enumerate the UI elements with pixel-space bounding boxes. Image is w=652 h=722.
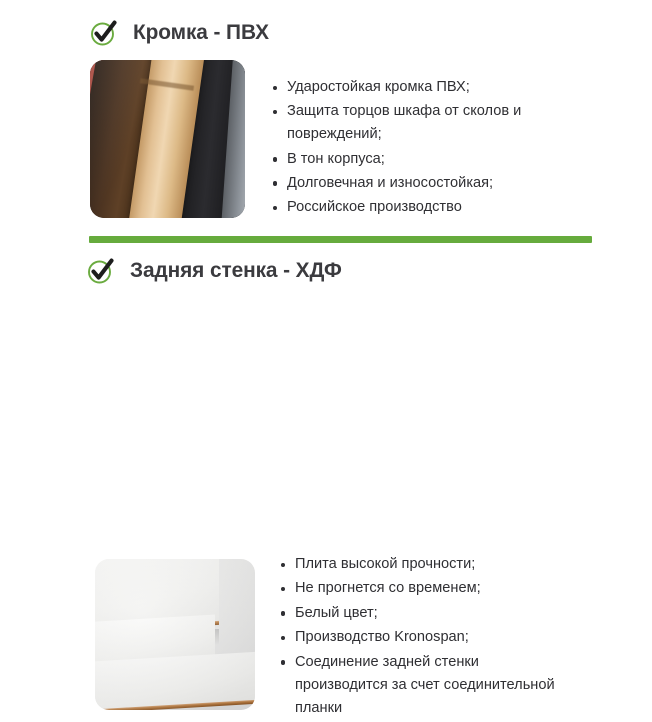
section-title: Задняя стенка - ХДФ: [130, 260, 342, 282]
check-circle-icon: [86, 256, 116, 286]
section-back-panel: Задняя стенка - ХДФ: [0, 247, 652, 500]
image-vignette: [95, 559, 255, 710]
feature-list-back-panel: Плита высокой прочности; Не прогнется со…: [280, 553, 570, 722]
section-edge-banding: Кромка - ПВХ Ударостойкая кромка ПВХ; За…: [0, 0, 652, 232]
list-item: Защита торцов шкафа от сколов и поврежде…: [272, 100, 572, 146]
list-item: Белый цвет;: [280, 602, 570, 625]
section-header-back-panel: Задняя стенка - ХДФ: [86, 256, 348, 286]
product-image-back-panel: [95, 559, 255, 710]
section-title: Кромка - ПВХ: [133, 22, 269, 44]
hdf-panel-artwork: [95, 559, 255, 710]
list-item: Ударостойкая кромка ПВХ;: [272, 76, 572, 99]
image-glare: [90, 60, 245, 218]
list-item: Плита высокой прочности;: [280, 553, 570, 576]
list-item: Не прогнется со временем;: [280, 577, 570, 600]
product-image-edge-banding: [90, 60, 245, 218]
pvc-edge-banding-artwork: [90, 60, 245, 218]
list-item: Производство Kronospan;: [280, 626, 570, 649]
list-item: В тон корпуса;: [272, 148, 572, 171]
section-header-edge-banding: Кромка - ПВХ: [89, 18, 273, 48]
list-item: Соединение задней стенки производится за…: [280, 651, 570, 721]
check-circle-icon: [89, 18, 119, 48]
list-item: Долговечная и износостойкая;: [272, 172, 572, 195]
section-divider: [89, 236, 592, 243]
feature-list-edge-banding: Ударостойкая кромка ПВХ; Защита торцов ш…: [272, 76, 572, 220]
feature-spec-page: Кромка - ПВХ Ударостойкая кромка ПВХ; За…: [0, 0, 652, 500]
list-item: Российское производство: [272, 196, 572, 219]
